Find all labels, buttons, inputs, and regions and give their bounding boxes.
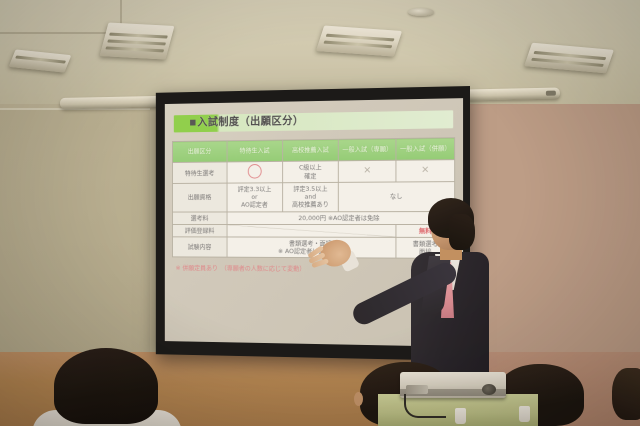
- column-header-general-concurrent: 一般入試（併願）: [396, 138, 455, 161]
- row-header-eligibility: 出願資格: [172, 183, 226, 211]
- water-bottle: [455, 408, 466, 424]
- ceiling-light-fixture: [316, 26, 402, 57]
- column-header-general-exclusive: 一般入試（専願）: [339, 139, 396, 161]
- cell-cross-mark: ×: [396, 160, 455, 182]
- audience-far-right: [612, 368, 640, 426]
- row-header-exam-content: 試験内容: [172, 237, 226, 258]
- ceiling-light-fixture: [100, 22, 175, 59]
- cell-grade-c-confirmed: C級以上 確定: [282, 161, 338, 183]
- table-row: 特待生選考 C級以上 確定 × ×: [172, 160, 454, 184]
- diagonal-strike-icon: [227, 225, 395, 237]
- column-header-scholarship: 特待生入試: [227, 140, 282, 162]
- table-header-row: 出願区分 特待生入試 高校推薦入試 一般入試（専願）: [172, 138, 454, 163]
- projector-lens-icon: [482, 384, 496, 395]
- cross-mark-icon: ×: [421, 165, 429, 176]
- cell-registration-not-applicable: [227, 224, 396, 237]
- water-bottle: [519, 406, 530, 422]
- presenter-hair-back: [449, 214, 475, 250]
- audience-hair: [612, 368, 640, 420]
- roller-end-cap: [546, 91, 556, 96]
- projector-vent-icon: [406, 385, 428, 394]
- photo-scene: 入試制度（出願区分） 出願区分 特待生入試 高校推薦入試: [0, 0, 640, 426]
- cross-mark-icon: ×: [363, 165, 371, 176]
- cell-circle-mark: [227, 161, 282, 183]
- slide-title-text: 入試制度（出願区分）: [197, 112, 303, 129]
- title-square-bullet-icon: [190, 120, 195, 126]
- column-header-category: 出願区分: [172, 141, 226, 163]
- slide-title: 入試制度（出願区分）: [174, 107, 453, 135]
- audience-front-left: [40, 348, 172, 426]
- column-header-recommendation: 高校推薦入試: [282, 139, 338, 161]
- circle-mark-icon: [247, 164, 261, 179]
- left-wall-panel: [0, 108, 150, 357]
- cell-eligibility-scholarship: 評定3.3以上 or AO認定者: [227, 183, 282, 212]
- smoke-detector-icon: [408, 8, 434, 16]
- cell-eligibility-recommendation: 評定3.5以上 and 高校推薦あり: [282, 182, 338, 211]
- audience-ear: [354, 392, 363, 406]
- row-header-registration-fee: 評価登録料: [172, 224, 226, 237]
- cell-cross-mark: ×: [339, 160, 396, 182]
- row-header-scholarship-selection: 特待生選考: [172, 162, 226, 184]
- projector-cable: [404, 394, 446, 418]
- audience-hair: [54, 348, 158, 424]
- row-header-selection-fee: 選考料: [172, 211, 226, 224]
